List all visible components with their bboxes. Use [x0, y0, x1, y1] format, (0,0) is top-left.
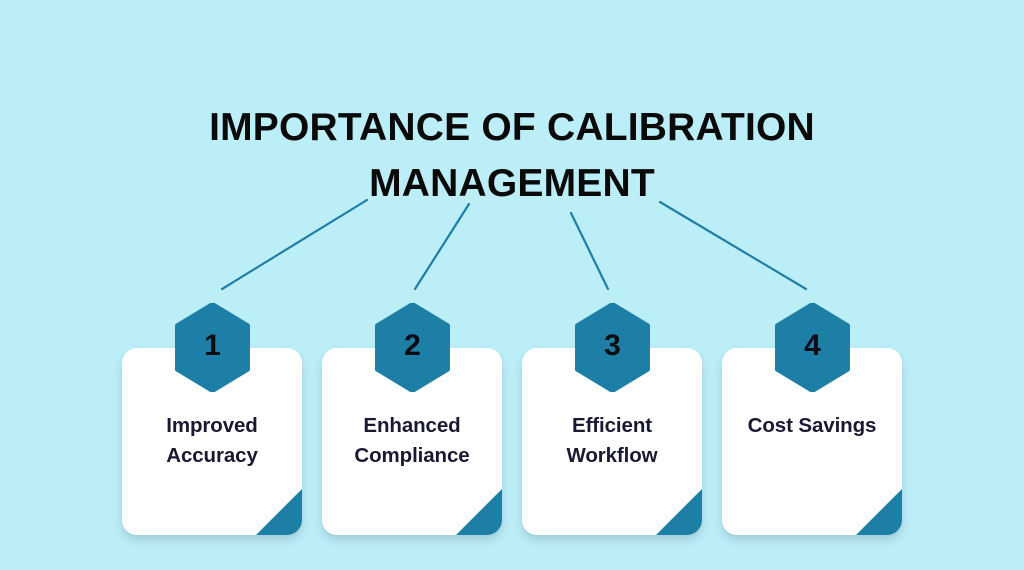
- connector-line-3: [571, 213, 608, 289]
- title-line-1: IMPORTANCE OF CALIBRATION: [0, 100, 1024, 156]
- hexagon-number: 4: [775, 303, 850, 392]
- card-item[interactable]: Cost Savings 4: [722, 303, 902, 535]
- hexagon-badge: 2: [375, 303, 450, 392]
- card-label: Improved Accuracy: [130, 411, 294, 471]
- hexagon-number: 1: [175, 303, 250, 392]
- corner-fold-icon: [456, 489, 502, 535]
- page-title: IMPORTANCE OF CALIBRATION MANAGEMENT: [0, 100, 1024, 212]
- card-label-line-1: Efficient: [572, 414, 652, 437]
- corner-fold-icon: [656, 489, 702, 535]
- card-item[interactable]: Improved Accuracy 1: [122, 303, 302, 535]
- card-label: Cost Savings: [730, 411, 894, 441]
- corner-fold-icon: [856, 489, 902, 535]
- hexagon-badge: 3: [575, 303, 650, 392]
- corner-fold-icon: [256, 489, 302, 535]
- connector-line-4: [660, 202, 806, 289]
- card-label: Enhanced Compliance: [330, 411, 494, 471]
- card-label-line-1: Cost Savings: [748, 414, 877, 437]
- card-label-line-2: Workflow: [566, 444, 657, 467]
- card-label-line-1: Enhanced: [363, 414, 460, 437]
- hexagon-badge: 4: [775, 303, 850, 392]
- title-line-2: MANAGEMENT: [0, 156, 1024, 212]
- card-label-line-1: Improved: [166, 414, 257, 437]
- connector-line-1: [222, 200, 367, 289]
- connector-line-2: [415, 204, 469, 289]
- hexagon-number: 3: [575, 303, 650, 392]
- card-item[interactable]: Efficient Workflow 3: [522, 303, 702, 535]
- cards-row: Improved Accuracy 1 Enhanced Compliance: [122, 303, 902, 543]
- hexagon-number: 2: [375, 303, 450, 392]
- hexagon-badge: 1: [175, 303, 250, 392]
- card-label-line-2: Accuracy: [166, 444, 258, 467]
- card-item[interactable]: Enhanced Compliance 2: [322, 303, 502, 535]
- infographic-canvas: IMPORTANCE OF CALIBRATION MANAGEMENT Imp…: [0, 0, 1024, 570]
- card-label: Efficient Workflow: [530, 411, 694, 471]
- card-label-line-2: Compliance: [354, 444, 469, 467]
